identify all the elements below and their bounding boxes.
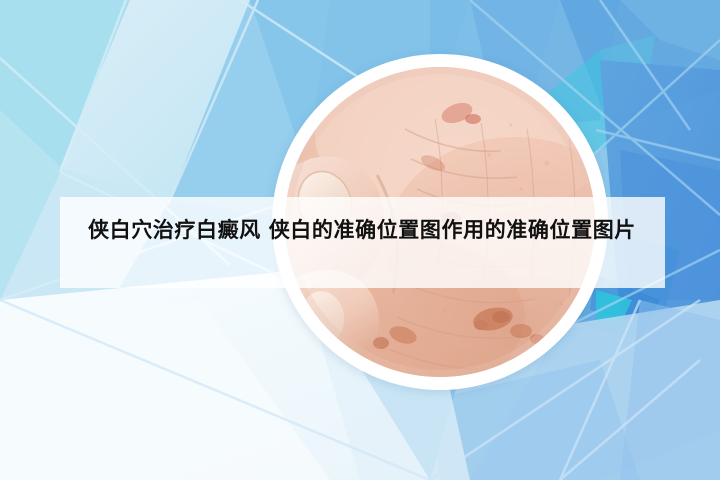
page-title: 侠白穴治疗白癜风 侠白的准确位置图作用的准确位置图片 [88, 213, 641, 247]
article-banner: 侠白穴治疗白癜风 侠白的准确位置图作用的准确位置图片 [0, 0, 720, 480]
caption-overlay-band: 侠白穴治疗白癜风 侠白的准确位置图作用的准确位置图片 [60, 197, 665, 288]
